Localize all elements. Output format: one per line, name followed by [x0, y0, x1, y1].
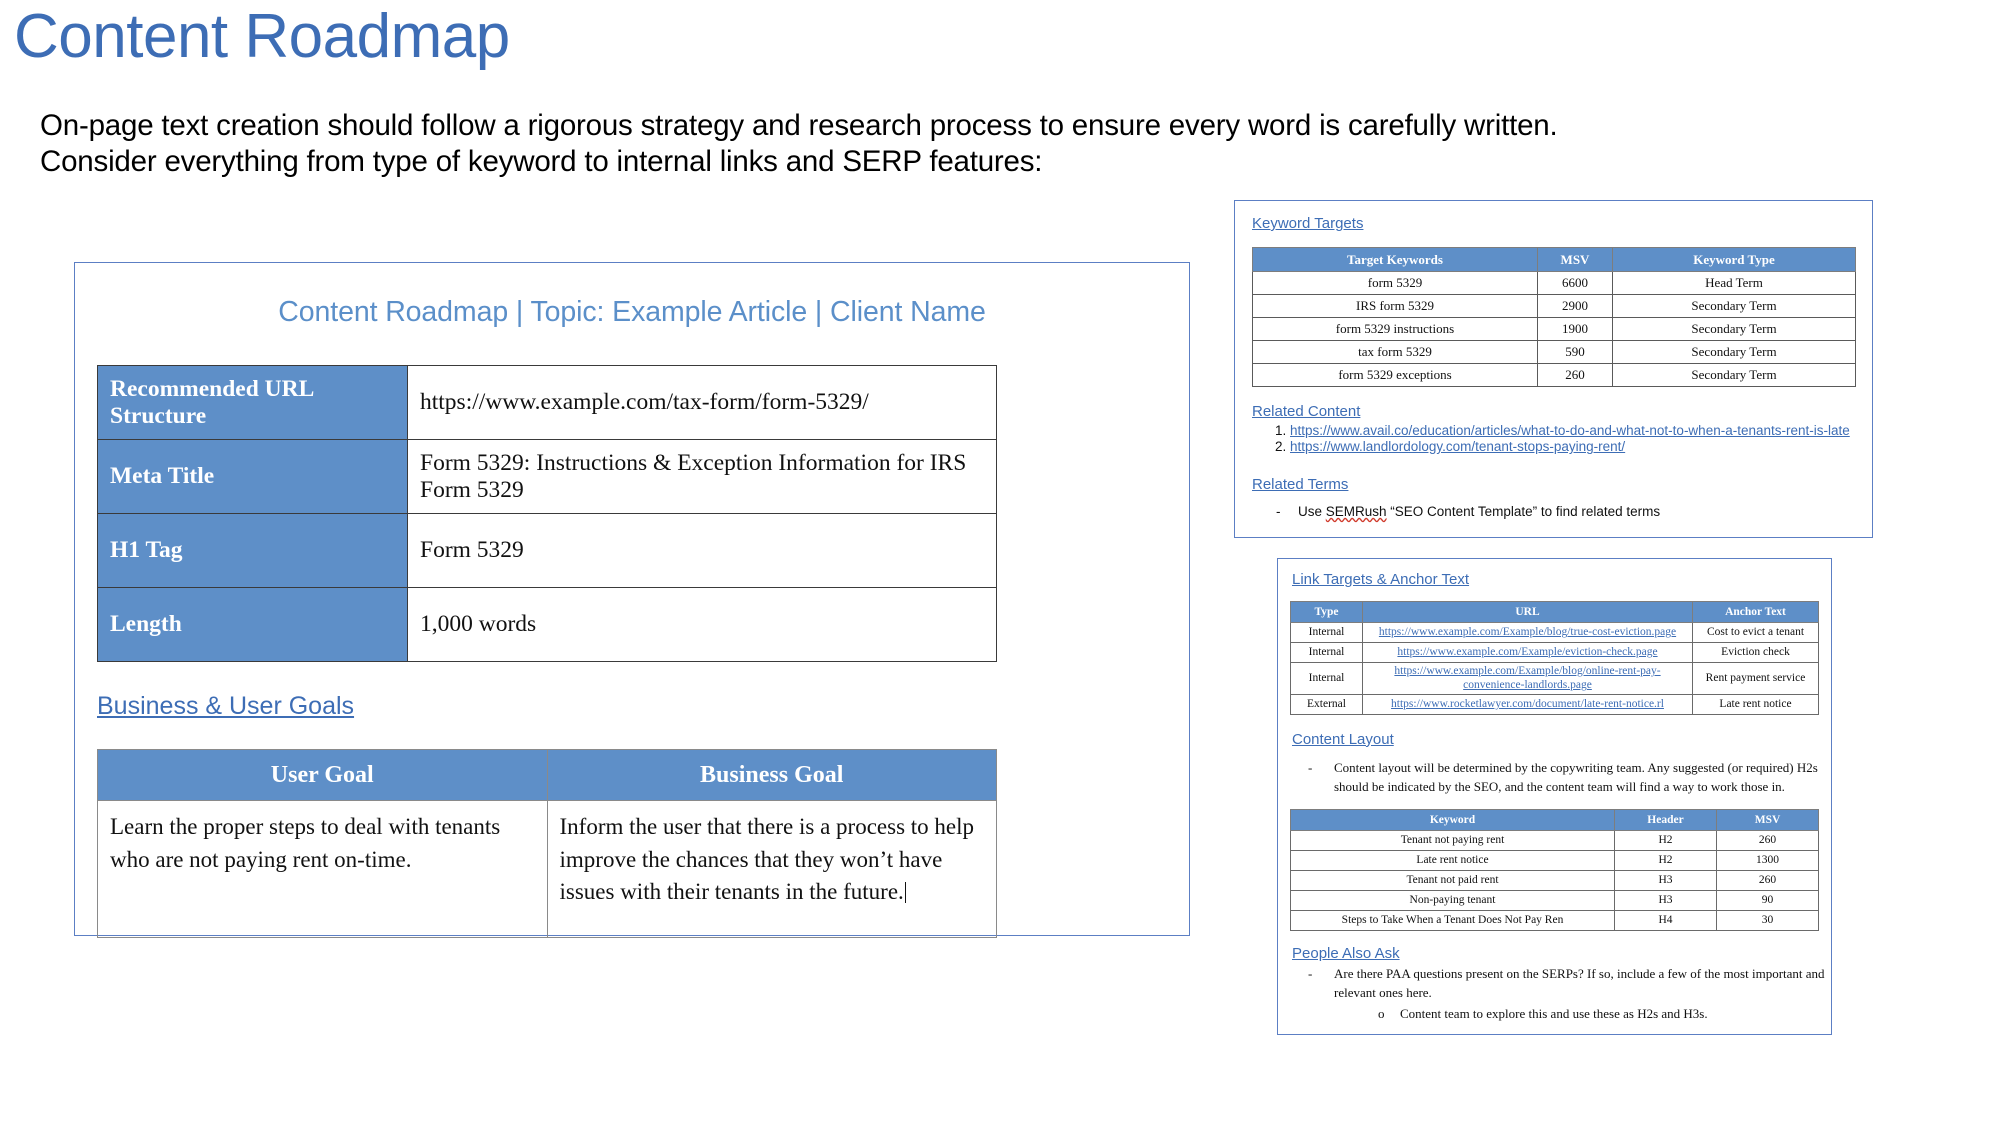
related-terms-list: Use SEMRush “SEO Content Template” to fi… — [1252, 504, 1872, 519]
cell-header-level: H2 — [1615, 830, 1717, 850]
table-row: form 5329 instructions 1900 Secondary Te… — [1253, 318, 1856, 341]
cell-link-type: External — [1291, 694, 1363, 714]
list-item: https://www.landlordology.com/tenant-sto… — [1290, 439, 1872, 454]
content-layout-keyword-table: Keyword Header MSV Tenant not paying ren… — [1290, 809, 1819, 931]
table-row: Steps to Take When a Tenant Does Not Pay… — [1291, 910, 1819, 930]
cell-anchor-text: Cost to evict a tenant — [1693, 623, 1819, 643]
cell-msv: 1300 — [1717, 850, 1819, 870]
table-row: form 5329 6600 Head Term — [1253, 272, 1856, 295]
column-header-business-goal: Business Goal — [547, 750, 997, 801]
link-url-1[interactable]: https://www.example.com/Example/blog/tru… — [1379, 626, 1676, 638]
cell-link-url: https://www.rocketlawyer.com/document/la… — [1363, 694, 1693, 714]
page-subtitle-line-1: On-page text creation should follow a ri… — [40, 108, 1940, 144]
cell-keyword: Late rent notice — [1291, 850, 1615, 870]
cell-link-type: Internal — [1291, 643, 1363, 663]
list-item: Content team to explore this and use the… — [1378, 1004, 1831, 1024]
cell-msv: 6600 — [1538, 272, 1613, 295]
cell-msv: 260 — [1538, 364, 1613, 387]
related-terms-note-tool: SEMRush — [1326, 504, 1387, 519]
table-header-row: User Goal Business Goal — [98, 750, 997, 801]
table-row: Internal https://www.example.com/Example… — [1291, 643, 1819, 663]
cell-msv: 30 — [1717, 910, 1819, 930]
cell-link-type: Internal — [1291, 623, 1363, 643]
table-row: Meta Title Form 5329: Instructions & Exc… — [98, 440, 997, 514]
column-header-msv: MSV — [1717, 809, 1819, 830]
table-row: form 5329 exceptions 260 Secondary Term — [1253, 364, 1856, 387]
cell-keyword-type: Secondary Term — [1613, 341, 1856, 364]
cell-business-goal: Inform the user that there is a process … — [547, 801, 997, 938]
link-url-3[interactable]: https://www.example.com/Example/blog/onl… — [1394, 665, 1660, 691]
row-label-h1-tag: H1 Tag — [98, 514, 408, 588]
related-terms-note-prefix: Use — [1298, 504, 1326, 519]
text-cursor-caret — [905, 882, 906, 903]
keyword-targets-panel: Keyword Targets Target Keywords MSV Keyw… — [1234, 200, 1873, 538]
table-row: Tenant not paying rent H2 260 — [1291, 830, 1819, 850]
related-terms-note-suffix: “SEO Content Template” to find related t… — [1387, 504, 1661, 519]
cell-business-goal-text: Inform the user that there is a process … — [560, 814, 975, 904]
row-label-meta-title: Meta Title — [98, 440, 408, 514]
cell-keyword-type: Head Term — [1613, 272, 1856, 295]
table-row: Length 1,000 words — [98, 588, 997, 662]
row-value-h1-tag: Form 5329 — [408, 514, 997, 588]
list-item: Content layout will be determined by the… — [1308, 758, 1831, 797]
related-content-list: https://www.avail.co/education/articles/… — [1252, 423, 1872, 454]
business-user-goals-heading: Business & User Goals — [97, 692, 354, 721]
list-item: https://www.avail.co/education/articles/… — [1290, 423, 1872, 438]
column-header-url: URL — [1363, 602, 1693, 623]
table-header-row: Type URL Anchor Text — [1291, 602, 1819, 623]
cell-msv: 590 — [1538, 341, 1613, 364]
table-row: Non-paying tenant H3 90 — [1291, 890, 1819, 910]
column-header-keyword-type: Keyword Type — [1613, 248, 1856, 272]
cell-keyword: tax form 5329 — [1253, 341, 1538, 364]
related-content-block: Related Content https://www.avail.co/edu… — [1252, 403, 1872, 454]
keyword-targets-table: Target Keywords MSV Keyword Type form 53… — [1252, 247, 1856, 387]
cell-link-url: https://www.example.com/Example/eviction… — [1363, 643, 1693, 663]
link-url-2[interactable]: https://www.example.com/Example/eviction… — [1397, 646, 1657, 658]
cell-link-url: https://www.example.com/Example/blog/onl… — [1363, 663, 1693, 695]
column-header-user-goal: User Goal — [98, 750, 548, 801]
table-row: tax form 5329 590 Secondary Term — [1253, 341, 1856, 364]
table-row: Internal https://www.example.com/Example… — [1291, 623, 1819, 643]
column-header-msv: MSV — [1538, 248, 1613, 272]
row-value-recommended-url-structure: https://www.example.com/tax-form/form-53… — [408, 366, 997, 440]
page-subtitle: On-page text creation should follow a ri… — [40, 108, 1940, 180]
document-heading: Content Roadmap | Topic: Example Article… — [75, 296, 1189, 329]
paa-note-list: Are there PAA questions present on the S… — [1292, 964, 1831, 1024]
table-row: IRS form 5329 2900 Secondary Term — [1253, 295, 1856, 318]
content-layout-note-list: Content layout will be determined by the… — [1292, 758, 1831, 797]
cell-msv: 2900 — [1538, 295, 1613, 318]
content-layout-heading: Content Layout — [1292, 731, 1394, 748]
cell-anchor-text: Late rent notice — [1693, 694, 1819, 714]
table-header-row: Target Keywords MSV Keyword Type — [1253, 248, 1856, 272]
cell-user-goal: Learn the proper steps to deal with tena… — [98, 801, 548, 938]
table-row: Tenant not paid rent H3 260 — [1291, 870, 1819, 890]
related-terms-heading: Related Terms — [1252, 476, 1348, 493]
page-title: Content Roadmap — [14, 2, 510, 71]
table-row: External https://www.rocketlawyer.com/do… — [1291, 694, 1819, 714]
people-also-ask-heading: People Also Ask — [1292, 945, 1400, 962]
column-header-target-keywords: Target Keywords — [1253, 248, 1538, 272]
column-header-type: Type — [1291, 602, 1363, 623]
cell-anchor-text: Eviction check — [1693, 643, 1819, 663]
table-header-row: Keyword Header MSV — [1291, 809, 1819, 830]
cell-keyword: form 5329 exceptions — [1253, 364, 1538, 387]
page-subtitle-line-2: Consider everything from type of keyword… — [40, 144, 1940, 180]
cell-link-type: Internal — [1291, 663, 1363, 695]
link-url-4[interactable]: https://www.rocketlawyer.com/document/la… — [1391, 698, 1664, 710]
paa-note-text: Are there PAA questions present on the S… — [1334, 966, 1825, 1001]
content-layout-block: Content Layout Content layout will be de… — [1292, 731, 1831, 797]
keyword-targets-heading: Keyword Targets — [1252, 215, 1363, 232]
link-targets-heading: Link Targets & Anchor Text — [1292, 571, 1469, 588]
cell-keyword-type: Secondary Term — [1613, 295, 1856, 318]
cell-msv: 90 — [1717, 890, 1819, 910]
column-header-header: Header — [1615, 809, 1717, 830]
cell-link-url: https://www.example.com/Example/blog/tru… — [1363, 623, 1693, 643]
list-item: Are there PAA questions present on the S… — [1308, 964, 1831, 1024]
url-meta-table: Recommended URL Structure https://www.ex… — [97, 365, 997, 662]
cell-keyword: Non-paying tenant — [1291, 890, 1615, 910]
cell-header-level: H2 — [1615, 850, 1717, 870]
cell-keyword: Steps to Take When a Tenant Does Not Pay… — [1291, 910, 1615, 930]
content-roadmap-document-panel: Content Roadmap | Topic: Example Article… — [74, 262, 1190, 936]
people-also-ask-block: Are there PAA questions present on the S… — [1292, 964, 1831, 1024]
business-user-goals-table: User Goal Business Goal Learn the proper… — [97, 749, 997, 938]
cell-keyword: IRS form 5329 — [1253, 295, 1538, 318]
cell-keyword: Tenant not paying rent — [1291, 830, 1615, 850]
cell-msv: 260 — [1717, 830, 1819, 850]
list-item: Use SEMRush “SEO Content Template” to fi… — [1276, 504, 1872, 519]
link-targets-table: Type URL Anchor Text Internal https://ww… — [1290, 601, 1819, 715]
cell-keyword: form 5329 — [1253, 272, 1538, 295]
table-row: Learn the proper steps to deal with tena… — [98, 801, 997, 938]
row-label-recommended-url-structure: Recommended URL Structure — [98, 366, 408, 440]
related-content-link-1[interactable]: https://www.avail.co/education/articles/… — [1290, 423, 1850, 438]
table-row: Late rent notice H2 1300 — [1291, 850, 1819, 870]
link-targets-content-layout-panel: Link Targets & Anchor Text Type URL Anch… — [1277, 558, 1832, 1035]
column-header-anchor-text: Anchor Text — [1693, 602, 1819, 623]
paa-subnote-list: Content team to explore this and use the… — [1334, 1004, 1831, 1024]
cell-keyword: form 5329 instructions — [1253, 318, 1538, 341]
cell-keyword-type: Secondary Term — [1613, 364, 1856, 387]
column-header-keyword: Keyword — [1291, 809, 1615, 830]
cell-header-level: H3 — [1615, 890, 1717, 910]
table-row: Internal https://www.example.com/Example… — [1291, 663, 1819, 695]
cell-header-level: H4 — [1615, 910, 1717, 930]
related-content-heading: Related Content — [1252, 403, 1360, 420]
table-row: Recommended URL Structure https://www.ex… — [98, 366, 997, 440]
cell-anchor-text: Rent payment service — [1693, 663, 1819, 695]
related-terms-block: Related Terms Use SEMRush “SEO Content T… — [1252, 476, 1872, 519]
cell-keyword: Tenant not paid rent — [1291, 870, 1615, 890]
row-value-meta-title: Form 5329: Instructions & Exception Info… — [408, 440, 997, 514]
related-content-link-2[interactable]: https://www.landlordology.com/tenant-sto… — [1290, 439, 1625, 454]
row-label-length: Length — [98, 588, 408, 662]
cell-keyword-type: Secondary Term — [1613, 318, 1856, 341]
cell-msv: 260 — [1717, 870, 1819, 890]
row-value-length: 1,000 words — [408, 588, 997, 662]
table-row: H1 Tag Form 5329 — [98, 514, 997, 588]
cell-msv: 1900 — [1538, 318, 1613, 341]
cell-header-level: H3 — [1615, 870, 1717, 890]
